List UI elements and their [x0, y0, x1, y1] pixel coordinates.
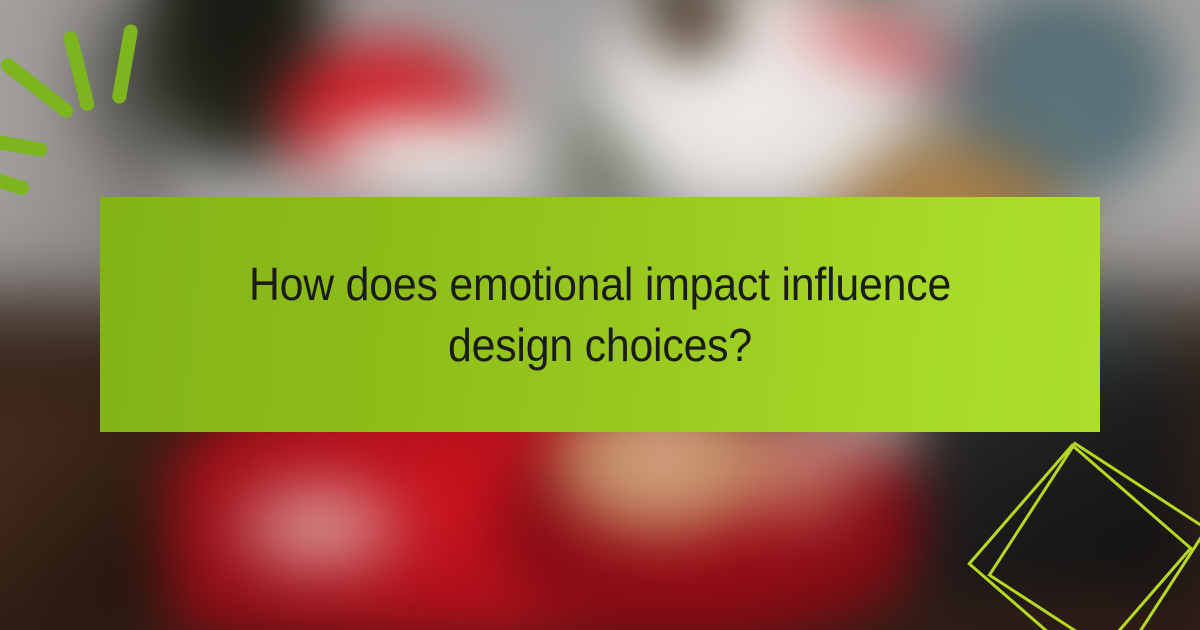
headline-banner: How does emotional impact influence desi…: [100, 197, 1100, 432]
background-santa-hat-fur: [316, 114, 544, 193]
spark-3-icon: [0, 55, 76, 120]
page-title: How does emotional impact influence desi…: [228, 254, 972, 375]
question-card-canvas: How does emotional impact influence desi…: [0, 0, 1200, 630]
sparkle-burst-icon: [0, 0, 220, 190]
background-suit-trim: [218, 469, 419, 586]
spark-4-icon: [0, 128, 49, 157]
spark-2-icon: [62, 30, 95, 113]
spark-1-icon: [111, 23, 139, 104]
rotated-squares-decoration: [978, 442, 1200, 630]
